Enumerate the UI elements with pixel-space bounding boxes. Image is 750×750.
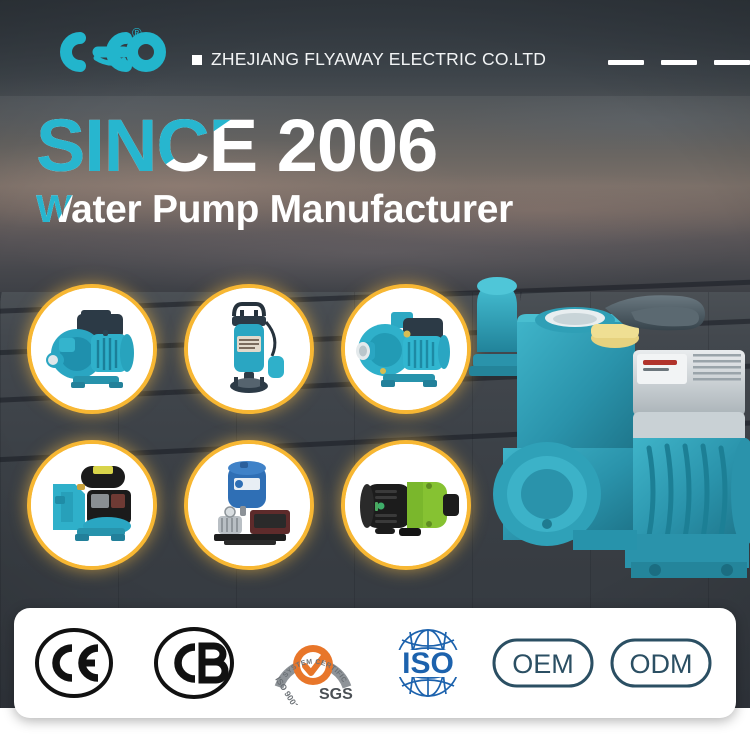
headline-block: SINCE 2006 SINCE 2006 Water Pump Manufac… bbox=[36, 110, 596, 231]
company-name-block: ZHEJIANG FLYAWAY ELECTRIC CO.LTD bbox=[192, 49, 546, 70]
banner-header: ® ZHEJIANG FLYAWAY ELECTRIC CO.LTD bbox=[0, 0, 750, 96]
headline-subtitle-base: Water Pump Manufacturer bbox=[36, 188, 513, 231]
square-bullet-icon bbox=[192, 55, 202, 65]
odm-label: ODM bbox=[630, 649, 693, 679]
product-thumb-centrifugal-pump[interactable] bbox=[345, 288, 467, 410]
product-thumb-circulation-pump[interactable] bbox=[345, 444, 467, 566]
iso-wordmark: ISO bbox=[402, 647, 454, 680]
hero-product-image bbox=[455, 262, 750, 592]
cgo-logo[interactable] bbox=[36, 27, 171, 77]
company-name: ZHEJIANG FLYAWAY ELECTRIC CO.LTD bbox=[211, 49, 546, 70]
headline-since: SINCE 2006 SINCE 2006 bbox=[36, 110, 596, 182]
certification-sgs[interactable]: SYSTEM CERTIFICATION ISO 9001:2000 SGS bbox=[254, 608, 372, 718]
oem-label: OEM bbox=[512, 649, 574, 679]
dash-icon bbox=[714, 60, 750, 65]
product-thumb-submersible-pump[interactable] bbox=[188, 288, 310, 410]
product-thumb-peripheral-pump[interactable] bbox=[31, 288, 153, 410]
certification-iso[interactable]: ISO bbox=[372, 608, 484, 718]
product-thumb-self-priming-pump[interactable] bbox=[31, 444, 153, 566]
certification-ce[interactable] bbox=[14, 608, 134, 718]
headline-subtitle: Water Pump Manufacturer Water Pump Manuf… bbox=[36, 190, 596, 231]
header-dashes bbox=[608, 60, 750, 65]
registered-mark: ® bbox=[132, 26, 142, 39]
product-thumb-booster-pressure-system[interactable] bbox=[188, 444, 310, 566]
dash-icon bbox=[608, 60, 644, 65]
dash-icon bbox=[661, 60, 697, 65]
certification-cb[interactable] bbox=[134, 608, 254, 718]
certification-card: SYSTEM CERTIFICATION ISO 9001:2000 SGS bbox=[14, 608, 736, 718]
promo-banner: ® ZHEJIANG FLYAWAY ELECTRIC CO.LTD SINCE… bbox=[0, 0, 750, 750]
certification-oem[interactable]: OEM bbox=[484, 608, 602, 718]
certification-odm[interactable]: ODM bbox=[602, 608, 720, 718]
sgs-wordmark: SGS bbox=[319, 686, 353, 703]
product-thumbnail-grid bbox=[25, 284, 485, 584]
